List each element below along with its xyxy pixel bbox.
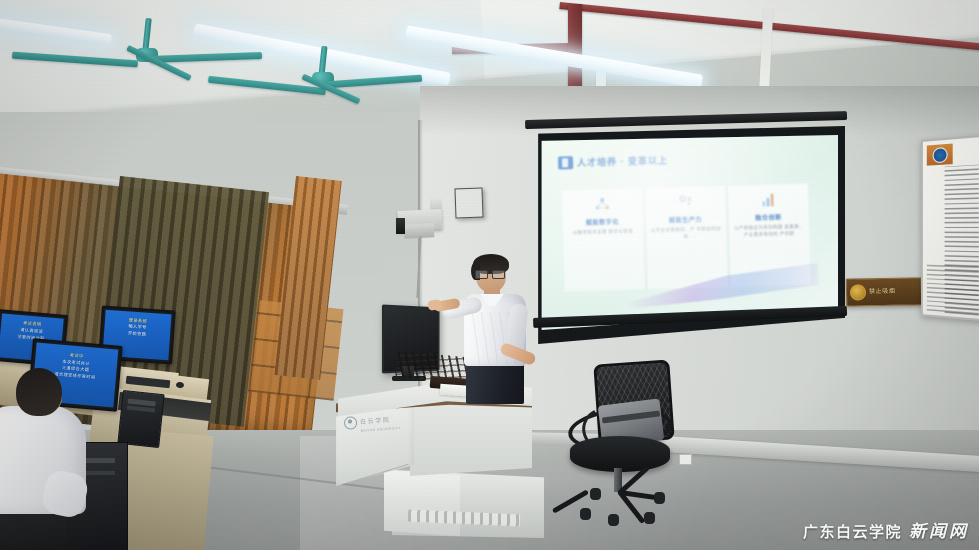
network-node-icon [592,194,613,215]
seated-student [0,368,102,550]
growth-chart-icon [758,189,779,210]
podium-logo-text: 白云学院 [360,418,391,426]
wall-outlet[interactable] [679,454,692,465]
office-chair[interactable] [556,362,678,530]
slide-card-heading: 赋能生产力 [669,214,702,224]
slide-card-body: 以平台支撑教研、产 学研协同创新 [646,226,726,242]
slide-title: 人才培养 · 变革以上 [577,153,668,169]
presenter [436,256,548,402]
chair-base [574,488,666,518]
gear-people-icon [675,192,696,213]
student-hair [16,368,62,416]
slide-brand-logo-icon [558,156,573,169]
chair-caster [608,514,619,526]
chair-seat [570,436,670,472]
podium-logo: 白云学院 BAIYUN UNIVERSITY [343,408,401,434]
projector-lens [396,218,405,234]
slide-card-body: 以产教融合为导向构建 高素质、产业需求导向的 产学研 [729,223,809,239]
slide-card-body: 以数字技术支撑 教学与管理 [569,228,637,237]
classroom-photo: 人才培养 · 变革以上 赋能数字化 以数字技术支撑 教学与管理 [0,0,979,550]
podium-base-front [384,470,460,536]
chair-caster [580,508,591,520]
wall-speaker [454,188,483,219]
notice-text-block-lower [927,262,979,314]
slide-card: 赋能生产力 以平台支撑教研、产 学研协同创新 [644,186,728,289]
chair-caster [590,488,601,500]
slide-card-heading: 融合创新 [755,212,782,222]
podium-logo-mark-icon [344,416,358,430]
no-smoking-plaque: 禁止吸烟 [846,277,922,306]
pc-tower-1[interactable] [117,390,164,448]
screen-surface: 人才培养 · 变革以上 赋能数字化 以数字技术支撑 教学与管理 [534,134,838,332]
slide-card-heading: 赋能数字化 [586,217,619,227]
glasses-icon [475,270,505,277]
seal-emblem-icon [850,284,866,300]
chair-caster [644,512,655,524]
student-monitor-3-text: 登录系统 输入学号 开始答题 [107,315,168,339]
university-emblem-icon [927,144,953,166]
slide-card: 赋能数字化 以数字技术支撑 教学与管理 [562,188,645,291]
chair-caster [654,492,665,504]
projected-slide: 人才培养 · 变革以上 赋能数字化 以数字技术支撑 教学与管理 [547,144,825,314]
framed-notice-board [921,135,979,322]
plaque-text: 禁止吸烟 [869,288,896,295]
slide-title-row: 人才培养 · 变革以上 [558,153,668,169]
presenter-trousers [466,360,524,404]
